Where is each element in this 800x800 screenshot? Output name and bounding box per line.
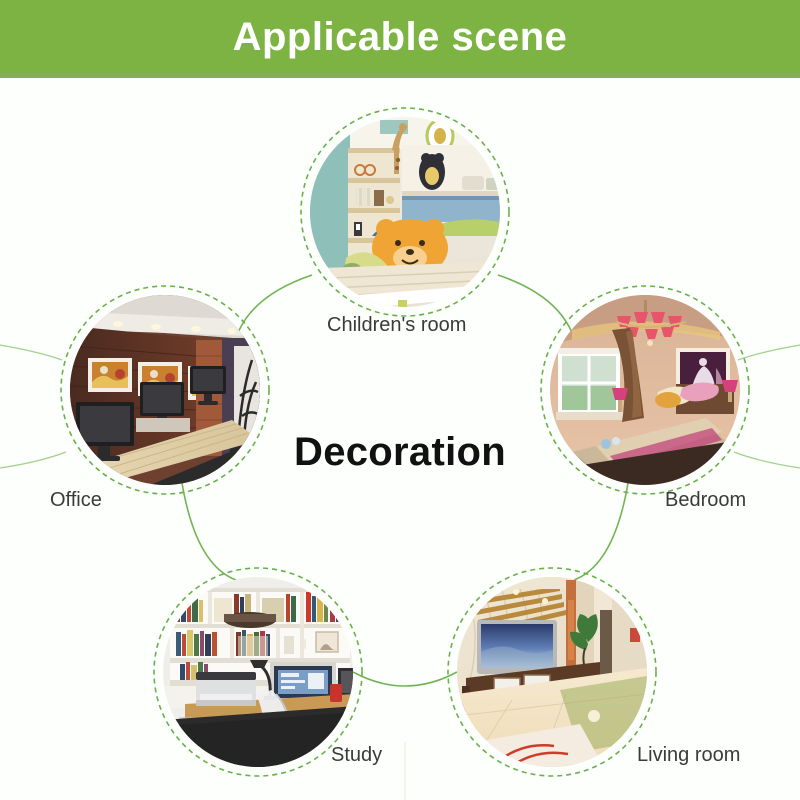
photo-children-room [310, 117, 500, 332]
photo-living-room [457, 577, 647, 776]
label-study: Study [331, 745, 382, 765]
connector-bedroom-living [574, 483, 628, 580]
header-banner: Applicable scene [0, 0, 800, 74]
page-title: Applicable scene [233, 17, 568, 57]
label-children-room: Children's room [327, 315, 466, 335]
diagram-center-label: Decoration [0, 432, 800, 472]
arc-right-edge [738, 345, 800, 360]
label-bedroom: Bedroom [665, 490, 746, 510]
node-children-room[interactable] [301, 108, 509, 332]
node-living-room[interactable] [448, 568, 656, 776]
arc-left-edge [0, 345, 62, 360]
connector-office-study [182, 483, 236, 580]
photo-study [163, 577, 356, 774]
label-office: Office [50, 490, 102, 510]
applicable-scene-infographic: Applicable scene [0, 0, 800, 800]
connector-study-living [353, 672, 457, 686]
label-living-room: Living room [637, 745, 740, 765]
